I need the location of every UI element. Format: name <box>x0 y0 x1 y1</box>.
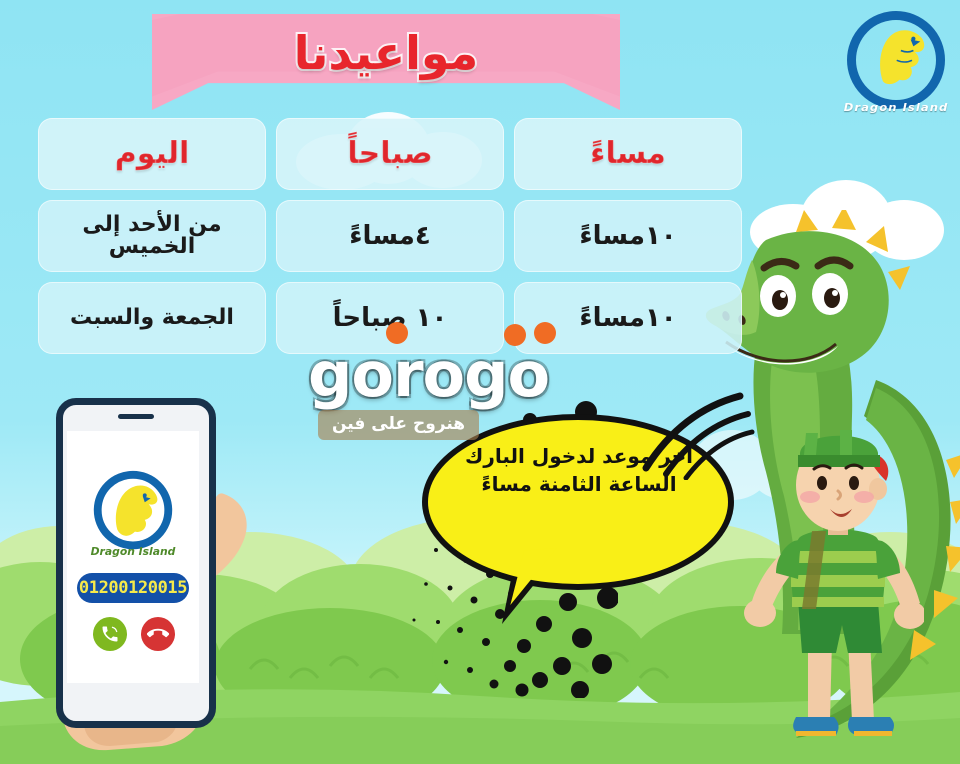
table-header-row: مساءً صباحاً اليوم <box>38 118 742 190</box>
phone-dragon-island-logo: Dragon Island <box>84 465 182 563</box>
header-label-morning: صباحاً <box>341 139 438 169</box>
page-title: مواعيدنا <box>152 14 620 110</box>
watermark: gorogo هنروح على فين <box>308 338 648 448</box>
svg-text:Dragon Island: Dragon Island <box>91 545 176 558</box>
call-accept-button[interactable] <box>93 617 127 651</box>
call-decline-button[interactable] <box>141 617 175 651</box>
phone-device: Dragon Island 01200120015 <box>56 398 216 728</box>
header-cell-evening: مساءً <box>514 118 742 190</box>
table-row: ١٠مساءً ٤مساءً من الأحد إلى الخميس <box>38 200 742 272</box>
phone-hangup-icon <box>147 623 169 645</box>
phone-screen: Dragon Island 01200120015 <box>67 431 199 683</box>
header-cell-morning: صباحاً <box>276 118 504 190</box>
phone-call-icon <box>100 624 120 644</box>
value-morning-row1: ٤مساءً <box>343 223 436 249</box>
value-day-row1: من الأحد إلى الخميس <box>38 214 266 258</box>
phone-speaker-icon <box>118 414 154 419</box>
dragon-island-logo: Dragon Island <box>840 4 952 116</box>
poster-canvas: أخر موعد لدخول البارك الساعة الثامنة مسا… <box>0 0 960 764</box>
title-ribbon: مواعيدنا <box>152 14 620 110</box>
header-label-day: اليوم <box>109 139 196 169</box>
bubble-motion-lines <box>636 390 756 480</box>
cell-evening-row1: ١٠مساءً <box>514 200 742 272</box>
phone-in-hand: Dragon Island 01200120015 <box>46 398 276 764</box>
logo-brand-text: Dragon Island <box>837 101 955 114</box>
value-evening-row2: ١٠مساءً <box>573 305 682 331</box>
cell-day-row1: من الأحد إلى الخميس <box>38 200 266 272</box>
header-label-evening: مساءً <box>584 139 672 169</box>
header-cell-day: اليوم <box>38 118 266 190</box>
cell-morning-row1: ٤مساءً <box>276 200 504 272</box>
boy-character <box>744 425 924 755</box>
value-evening-row1: ١٠مساءً <box>573 223 682 249</box>
cell-day-row2: الجمعة والسبت <box>38 282 266 354</box>
phone-number-display: 01200120015 <box>77 573 189 603</box>
value-day-row2: الجمعة والسبت <box>64 307 240 329</box>
watermark-logo-text: gorogo <box>308 338 648 411</box>
schedule-table: مساءً صباحاً اليوم ١٠مساءً ٤مساءً من الأ… <box>38 118 742 354</box>
dragon-head-icon <box>862 20 931 89</box>
watermark-tagline: هنروح على فين <box>318 410 479 440</box>
